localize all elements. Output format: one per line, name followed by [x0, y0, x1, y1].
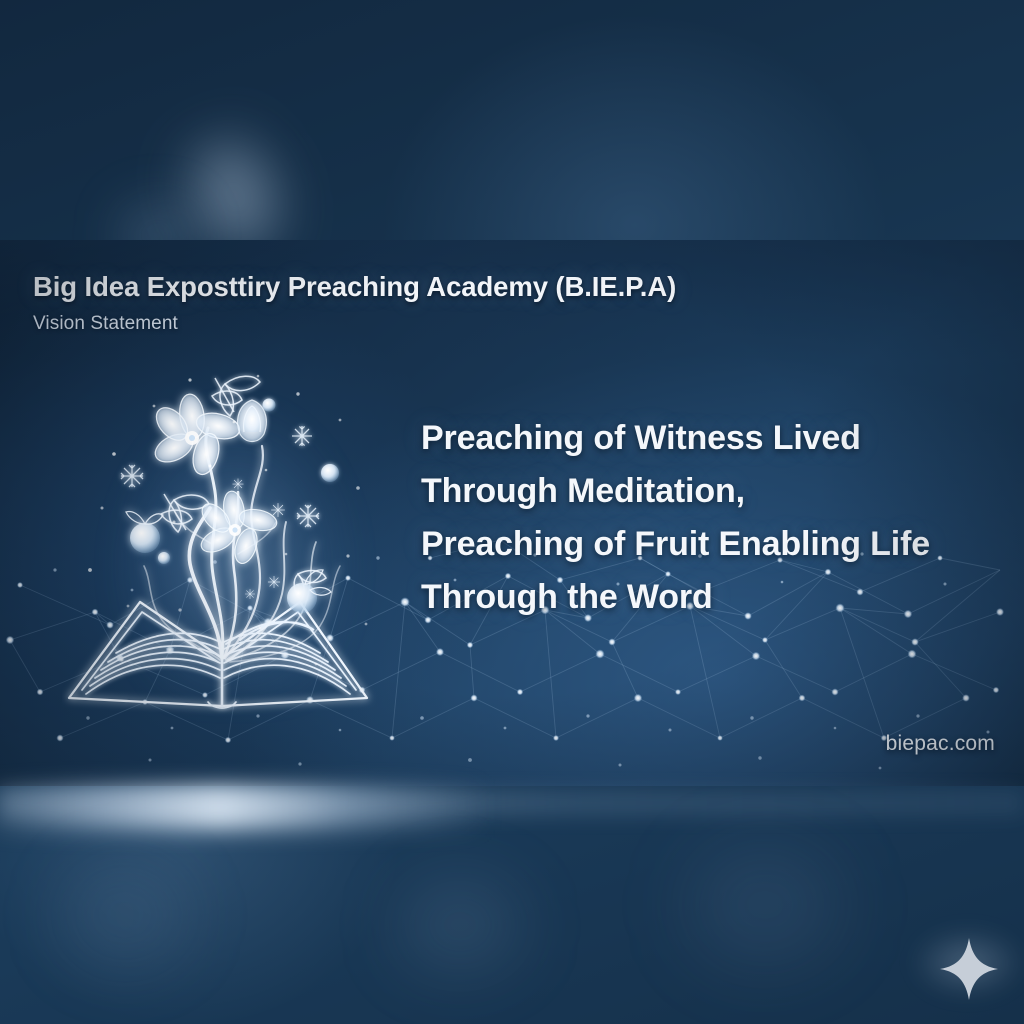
website-url[interactable]: biepac.com — [886, 732, 995, 756]
banner-screenshot: Big Idea Exposttiry Preaching Academy (B… — [0, 0, 1024, 1024]
headline-line: Through Meditation, — [421, 465, 1024, 518]
headline-line: Preaching of Fruit Enabling Life — [421, 518, 1024, 571]
vision-headline: Preaching of Witness Lived Through Medit… — [421, 412, 1024, 624]
brand-block: Big Idea Exposttiry Preaching Academy (B… — [33, 272, 793, 335]
headline-line: Through the Word — [421, 571, 1024, 624]
vision-statement-label: Vision Statement — [33, 313, 793, 335]
academy-title: Big Idea Exposttiry Preaching Academy (B… — [33, 272, 793, 302]
headline-line: Preaching of Witness Lived — [421, 412, 1024, 465]
vision-statement-banner: Big Idea Exposttiry Preaching Academy (B… — [0, 240, 1024, 786]
